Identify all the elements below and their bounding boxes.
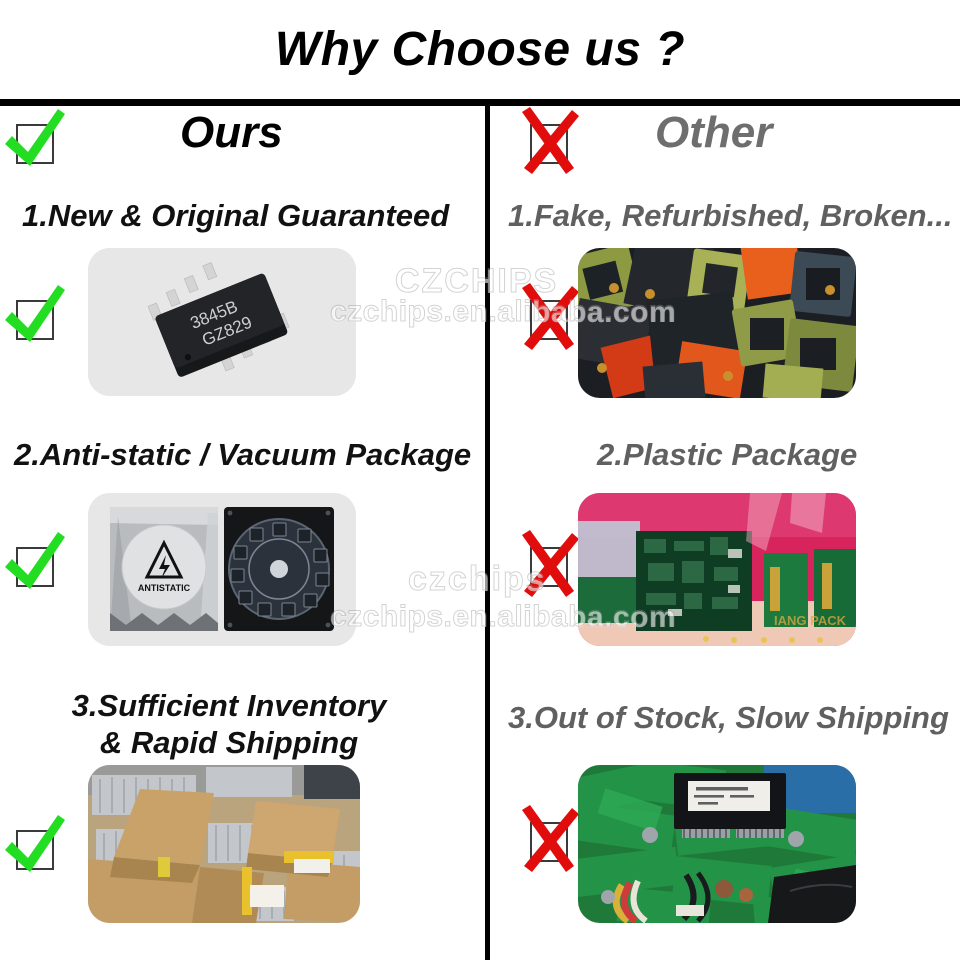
svg-text:IANG PACK: IANG PACK: [774, 613, 847, 628]
red-cross-glyph: [516, 106, 582, 176]
other-header-cross-icon: [520, 112, 578, 170]
column-divider-rule: [485, 106, 490, 960]
red-cross-glyph: [516, 529, 582, 599]
ours-item-3-check-icon: [6, 818, 64, 876]
green-check-glyph: [2, 106, 68, 176]
other-item-1-text: 1.Fake, Refurbished, Broken...: [508, 198, 952, 235]
column-header-ours: Ours: [180, 108, 283, 158]
ours-item-2-check-icon: [6, 535, 64, 593]
green-check-glyph: [2, 282, 68, 352]
ours-item-2-photo: ANTISTATIC: [88, 493, 356, 646]
green-check-glyph: [2, 812, 68, 882]
green-check-glyph: [2, 529, 68, 599]
header-divider-rule: [0, 99, 960, 106]
ours-item-2-text: 2.Anti-static / Vacuum Package: [14, 437, 471, 474]
ours-item-1-check-icon: [6, 288, 64, 346]
ours-item-1-photo: 3845B GZ829: [88, 248, 356, 396]
other-item-2-cross-icon: [520, 535, 578, 593]
why-choose-us-comparison-banner: Why Choose us ? Ours Other 1.New & Origi…: [0, 0, 960, 960]
column-header-other: Other: [655, 108, 772, 158]
red-cross-glyph: [516, 282, 582, 352]
other-item-3-text: 3.Out of Stock, Slow Shipping: [508, 700, 949, 737]
svg-text:ANTISTATIC: ANTISTATIC: [138, 583, 191, 593]
other-item-1-cross-icon: [520, 288, 578, 346]
ours-item-3-text: 3.Sufficient Inventory & Rapid Shipping: [64, 688, 394, 761]
red-cross-glyph: [516, 804, 582, 874]
other-item-2-photo: IANG PACK: [578, 493, 856, 646]
other-item-3-cross-icon: [520, 810, 578, 868]
other-item-1-photo: [578, 248, 856, 398]
ours-header-check-icon: [6, 112, 64, 170]
other-item-3-photo: [578, 765, 856, 923]
ours-item-3-photo: [88, 765, 360, 923]
page-title: Why Choose us ?: [0, 22, 960, 77]
ours-item-1-text: 1.New & Original Guaranteed: [22, 198, 449, 235]
other-item-2-text: 2.Plastic Package: [597, 437, 857, 474]
